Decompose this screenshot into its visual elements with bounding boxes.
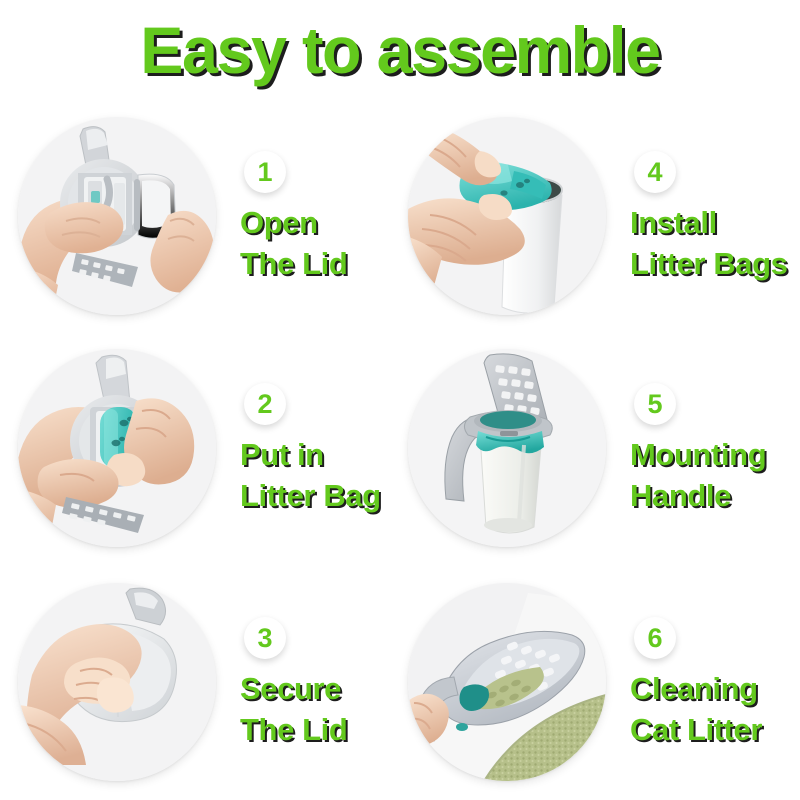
step-text-4: 4 Install Litter Bags <box>630 147 788 285</box>
step-text-2: 2 Put in Litter Bag <box>240 379 381 517</box>
step-number-badge-3: 3 <box>244 617 286 659</box>
step-item-6: 6 Cleaning Cat Litter <box>400 564 800 800</box>
step-number-3: 3 <box>257 625 272 652</box>
step-number-badge-4: 4 <box>634 151 676 193</box>
step-number-badge-6: 6 <box>634 617 676 659</box>
step-number-4: 4 <box>647 159 662 186</box>
photo-secure-the-lid <box>18 583 216 781</box>
step-item-2: 2 Put in Litter Bag <box>0 332 400 564</box>
step-item-3: 3 Secure The Lid <box>0 564 400 800</box>
step-number-badge-1: 1 <box>244 151 286 193</box>
step-number-2: 2 <box>257 391 272 418</box>
step-item-4: 4 Install Litter Bags <box>400 100 800 332</box>
step-item-1: 1 Open The Lid <box>0 100 400 332</box>
step-text-1: 1 Open The Lid <box>240 147 347 285</box>
step-label-line2-4: Litter Bags <box>630 244 788 285</box>
step-label-line2-2: Litter Bag <box>240 476 381 517</box>
step-label-line1-4: Install <box>630 203 788 244</box>
infographic-page: Easy to assemble <box>0 0 800 800</box>
step-number-5: 5 <box>647 391 662 418</box>
step-label-line1-2: Put in <box>240 435 381 476</box>
step-label-line1-6: Cleaning <box>630 669 762 710</box>
header: Easy to assemble <box>0 0 800 100</box>
step-number-badge-2: 2 <box>244 383 286 425</box>
photo-put-in-litter-bag <box>18 349 216 547</box>
step-label-line2-5: Handle <box>630 476 766 517</box>
photo-install-litter-bags <box>408 117 606 315</box>
photo-mounting-handle <box>408 349 606 547</box>
photo-open-the-lid <box>18 117 216 315</box>
steps-grid: 1 Open The Lid <box>0 100 800 800</box>
step-number-6: 6 <box>647 625 662 652</box>
step-number-1: 1 <box>257 159 272 186</box>
step-label-line1-1: Open <box>240 203 347 244</box>
step-text-6: 6 Cleaning Cat Litter <box>630 613 762 751</box>
step-text-3: 3 Secure The Lid <box>240 613 347 751</box>
step-text-5: 5 Mounting Handle <box>630 379 766 517</box>
step-label-line1-3: Secure <box>240 669 347 710</box>
step-label-line2-3: The Lid <box>240 710 347 751</box>
step-label-line2-1: The Lid <box>240 244 347 285</box>
page-title: Easy to assemble <box>140 17 659 83</box>
step-number-badge-5: 5 <box>634 383 676 425</box>
photo-cleaning-cat-litter <box>408 583 606 781</box>
step-label-line2-6: Cat Litter <box>630 710 762 751</box>
step-item-5: 5 Mounting Handle <box>400 332 800 564</box>
step-label-line1-5: Mounting <box>630 435 766 476</box>
